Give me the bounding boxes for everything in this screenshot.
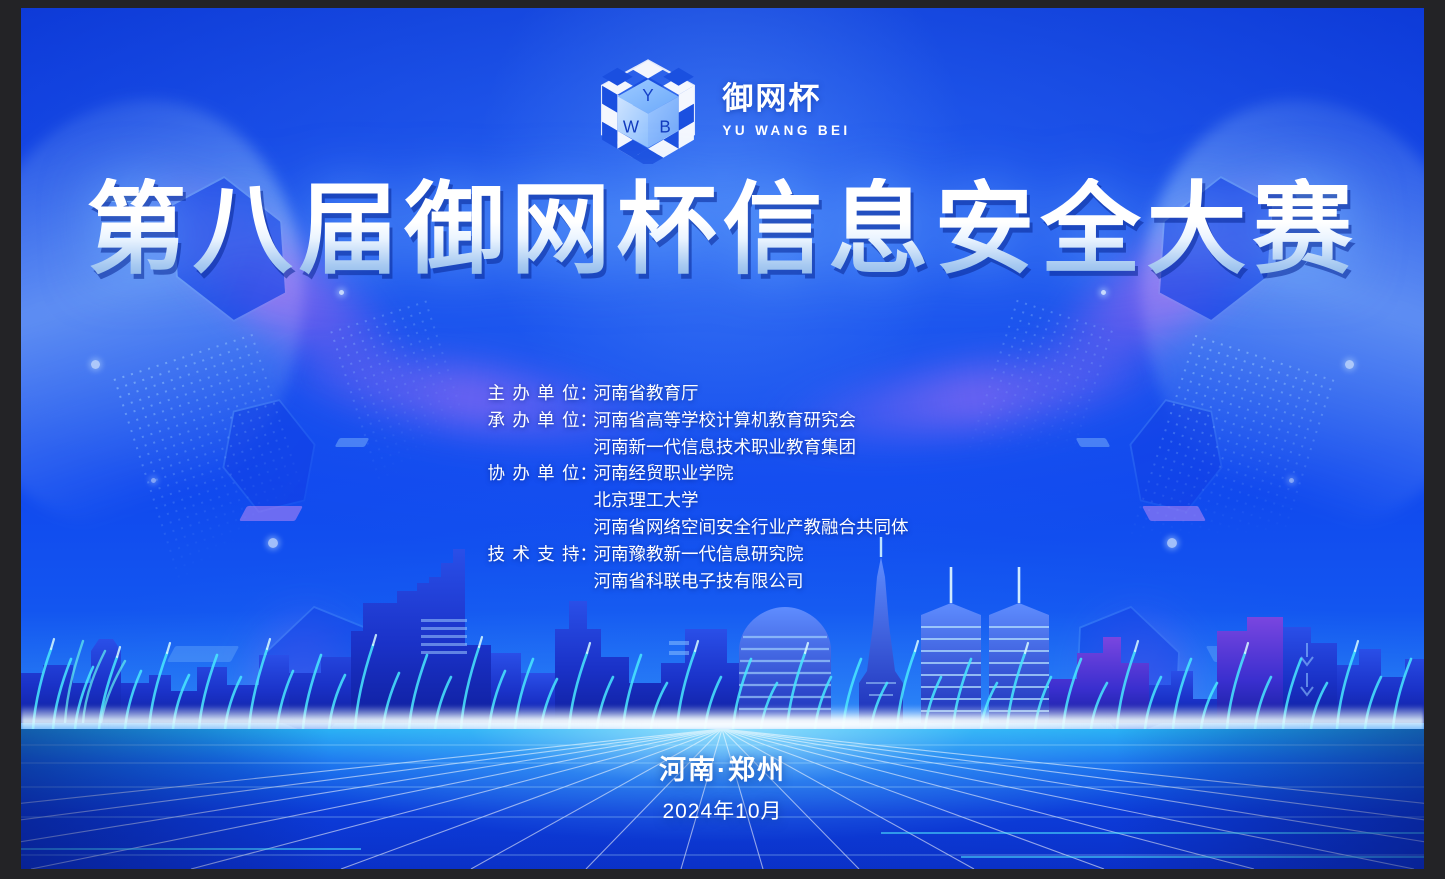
organization-value: 河南省教育厅	[594, 380, 958, 407]
organization-value: 河南省科联电子技有限公司	[594, 568, 958, 595]
accent-bar-8	[1206, 646, 1279, 662]
organization-value: 河南省高等学校计算机教育研究会	[594, 407, 958, 434]
organization-value: 河南新一代信息技术职业教育集团	[594, 434, 958, 461]
sparkle-dot	[1345, 360, 1354, 369]
organization-label	[488, 487, 580, 514]
brand-logo: Y W B 御网杯 YU WANG BEI	[21, 56, 1424, 164]
event-title: 第八届御网杯信息安全大赛	[21, 178, 1424, 283]
sparkle-dot	[1101, 290, 1106, 295]
cube-face-right-letter: B	[660, 118, 671, 137]
organization-label: 主办单位	[488, 380, 580, 407]
organization-row: 河南省网络空间安全行业产教融合共同体	[488, 514, 958, 541]
organization-value: 河南省网络空间安全行业产教融合共同体	[594, 514, 958, 541]
organization-colon	[580, 487, 594, 514]
logo-name-cn: 御网杯	[722, 82, 821, 116]
cube-face-left-letter: W	[623, 118, 640, 137]
accent-bar-7	[167, 646, 240, 662]
organization-label	[488, 568, 580, 595]
organization-colon	[580, 568, 594, 595]
organization-colon: ：	[580, 407, 594, 434]
organization-colon	[580, 514, 594, 541]
logo-text-block: 御网杯 YU WANG BEI	[722, 82, 850, 138]
organization-row: 承办单位 ： 河南省高等学校计算机教育研究会	[488, 407, 958, 434]
organization-label: 协办单位	[488, 460, 580, 487]
rubik-cube-icon: Y W B	[594, 56, 702, 164]
organization-row: 河南新一代信息技术职业教育集团	[488, 434, 958, 461]
screenshot-frame: Y W B 御网杯 YU WANG BEI 第八届御网杯信息安全大赛 主办单位 …	[0, 0, 1445, 879]
organizations-list: 主办单位 ： 河南省教育厅 承办单位 ： 河南省高等学校计算机教育研究会 河南新…	[21, 380, 1424, 594]
organization-label: 承办单位	[488, 407, 580, 434]
sparkle-dot	[339, 290, 344, 295]
organization-colon: ：	[580, 380, 594, 407]
cube-face-top-letter: Y	[643, 86, 655, 105]
organization-value: 河南豫教新一代信息研究院	[594, 541, 958, 568]
neon-light-spikes	[21, 609, 1424, 729]
organization-label	[488, 514, 580, 541]
organization-row: 主办单位 ： 河南省教育厅	[488, 380, 958, 407]
organization-row: 技术支持 ： 河南豫教新一代信息研究院	[488, 541, 958, 568]
organization-colon: ：	[580, 460, 594, 487]
event-poster: Y W B 御网杯 YU WANG BEI 第八届御网杯信息安全大赛 主办单位 …	[21, 8, 1424, 869]
organization-colon: ：	[580, 541, 594, 568]
organization-label: 技术支持	[488, 541, 580, 568]
organization-row: 协办单位 ： 河南经贸职业学院	[488, 460, 958, 487]
organization-colon	[580, 434, 594, 461]
organization-row: 北京理工大学	[488, 487, 958, 514]
organization-label	[488, 434, 580, 461]
organization-value: 北京理工大学	[594, 487, 958, 514]
perspective-ground-grid	[21, 729, 1424, 869]
logo-name-en: YU WANG BEI	[722, 123, 850, 138]
organization-row: 河南省科联电子技有限公司	[488, 568, 958, 595]
sparkle-dot	[91, 360, 100, 369]
organization-value: 河南经贸职业学院	[594, 460, 958, 487]
